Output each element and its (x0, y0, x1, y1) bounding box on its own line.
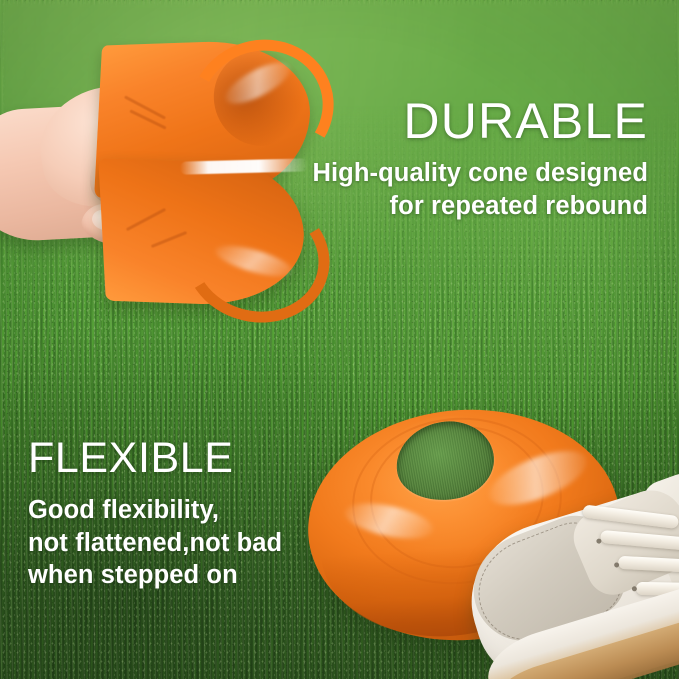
hand-squeezing-cone-photo (0, 28, 312, 318)
product-feature-image: DURABLE High-quality cone designed for r… (0, 0, 679, 679)
feature-description-durable-line-2: for repeated rebound (312, 190, 648, 223)
feature-heading-durable: DURABLE (312, 96, 648, 146)
feature-block-flexible: FLEXIBLE Good flexibility, not flattened… (28, 437, 282, 592)
shoe-stepping-on-cone-photo (300, 398, 679, 679)
cone-specular-highlight (180, 158, 308, 174)
feature-block-durable: DURABLE High-quality cone designed for r… (312, 96, 648, 223)
feature-description-flexible-line-3: when stepped on (28, 559, 282, 592)
folded-cone (94, 42, 312, 304)
feature-description-durable: High-quality cone designed for repeated … (312, 157, 648, 223)
feature-description-durable-line-1: High-quality cone designed (312, 157, 648, 190)
feature-heading-flexible: FLEXIBLE (28, 437, 282, 480)
feature-description-flexible-line-1: Good flexibility, (28, 494, 282, 527)
feature-description-flexible-line-2: not flattened,not bad (28, 527, 282, 560)
feature-description-flexible: Good flexibility, not flattened,not bad … (28, 494, 282, 592)
